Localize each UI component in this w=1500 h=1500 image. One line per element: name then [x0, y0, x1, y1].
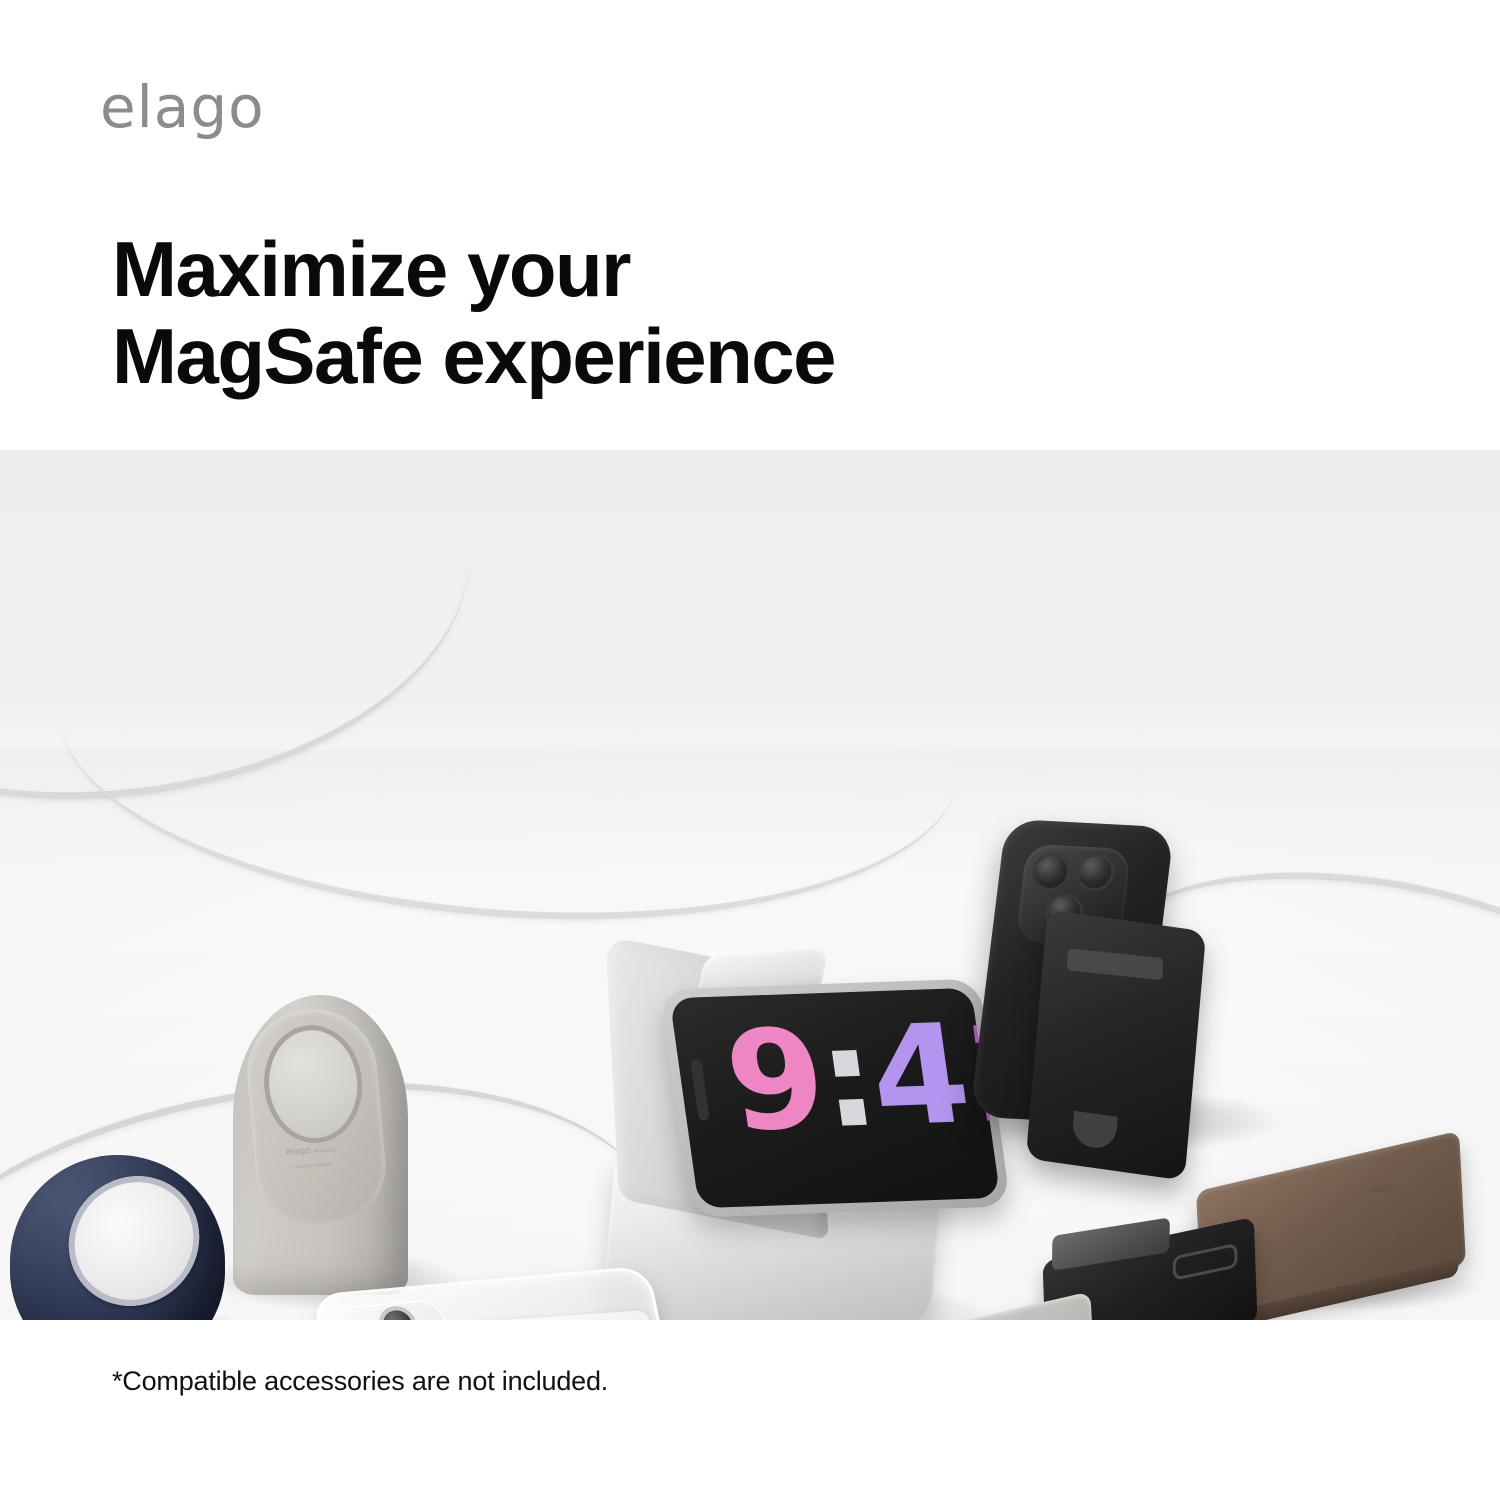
card-hook — [1172, 1243, 1237, 1281]
product-engraving: elago MagSafe charger holder — [276, 1143, 348, 1175]
page-title: Maximize your MagSafe experience — [112, 226, 835, 401]
camera-lens-icon — [1030, 852, 1073, 892]
brand-logo: elago — [100, 78, 265, 136]
disclaimer-text: *Compatible accessories are not included… — [112, 1366, 608, 1397]
magsafe-charger-pad — [57, 1161, 211, 1320]
taupe-magsafe-charger-holder: elago MagSafe charger holder — [233, 995, 408, 1295]
card-thumb-notch — [1071, 1111, 1118, 1151]
dynamic-island — [690, 1059, 710, 1121]
standby-clock: 9:41 — [718, 1005, 1000, 1202]
iphone-screen-standby: 9:41 — [670, 988, 1001, 1208]
hero-iphone-standby: 9:41 — [659, 979, 1011, 1218]
white-magsafe-card — [460, 1310, 668, 1320]
headline-line-2: MagSafe experience — [112, 313, 835, 400]
product-engraving: elago — [1369, 1181, 1391, 1195]
product-marketing-page: elago Maximize your MagSafe experience — [0, 0, 1500, 1500]
charger-holder-face — [242, 1004, 390, 1230]
product-photo-band: elago MagSafe charger holder 9:41 — [0, 450, 1500, 1320]
camera-lens-icon — [376, 1305, 420, 1320]
headline-line-1: Maximize your — [112, 225, 630, 313]
camera-lens-icon — [1074, 852, 1117, 892]
camera-module — [331, 1298, 461, 1320]
black-magsafe-wallet-stand — [1026, 909, 1206, 1180]
magsafe-charger-pad — [259, 1021, 367, 1147]
card-slot — [1067, 948, 1164, 980]
engraving-brand: elago — [286, 1146, 311, 1158]
